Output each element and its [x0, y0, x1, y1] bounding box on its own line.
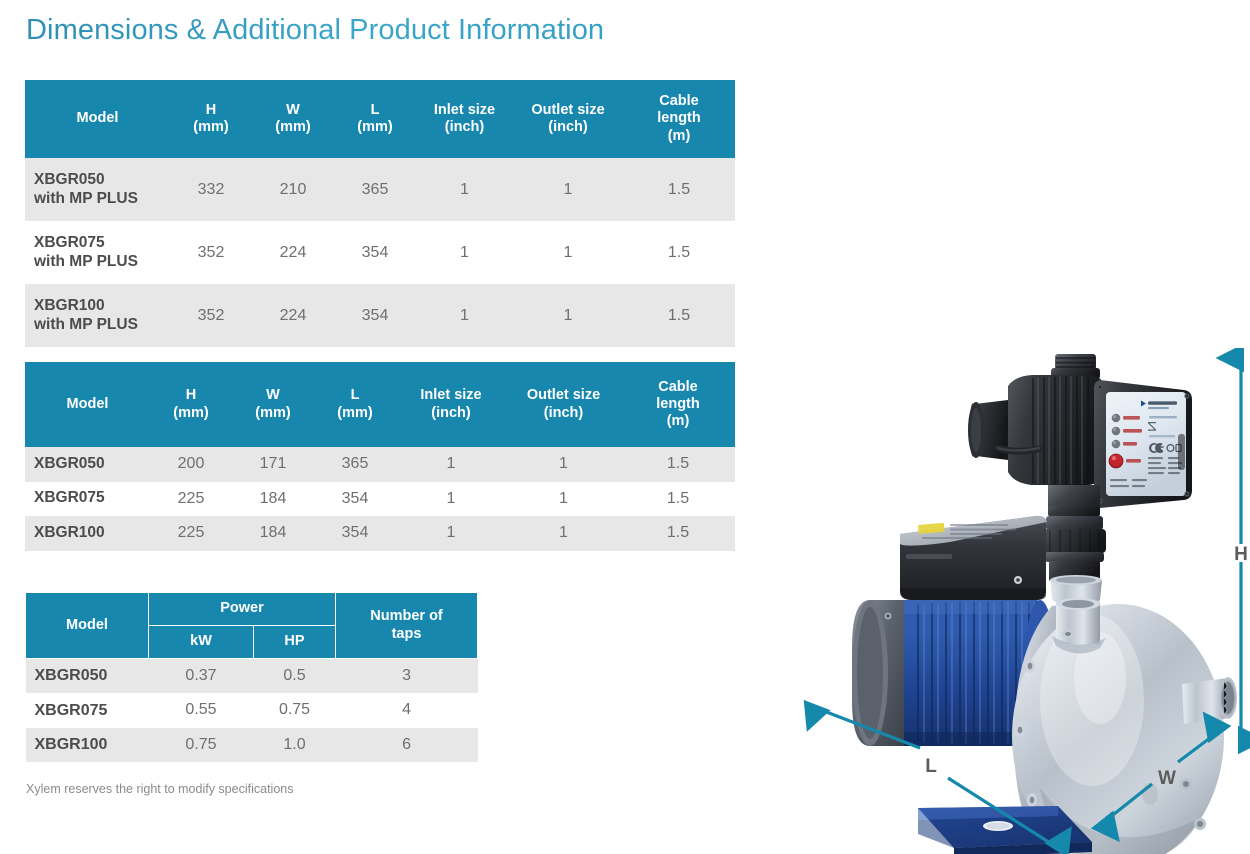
- cell-model: XBGR075: [25, 482, 150, 517]
- cell-length: 354: [314, 482, 396, 517]
- cell-length: 354: [334, 221, 416, 284]
- col-header-kw: kW: [149, 626, 254, 659]
- col-header-hp: HP: [254, 626, 336, 659]
- col-header-model: Model: [25, 362, 150, 447]
- cell-cable-length: 1.5: [623, 158, 735, 221]
- cell-width: 184: [232, 516, 314, 551]
- table-row: XBGR100 with MP PLUS 352 224 354 1 1 1.5: [25, 284, 735, 347]
- controller-neck-fitting: [1043, 485, 1106, 581]
- power-and-taps-table: Model Power Number of taps kW HP XBGR050…: [25, 592, 478, 762]
- col-header-cable-length: Cable length (m): [621, 362, 735, 447]
- col-header-inlet-size: Inlet size (inch): [396, 362, 506, 447]
- dimension-label-width: W: [1158, 768, 1176, 789]
- table-row: XBGR075 with MP PLUS 352 224 354 1 1 1.5: [25, 221, 735, 284]
- cell-inlet-size: 1: [396, 516, 506, 551]
- dimension-label-height: H: [1234, 544, 1248, 565]
- col-header-inlet-size: Inlet size (inch): [416, 80, 513, 158]
- cell-height: 225: [150, 482, 232, 517]
- col-header-cable-length: Cable length (m): [623, 80, 735, 158]
- page-title: Dimensions & Additional Product Informat…: [26, 14, 604, 47]
- col-header-length: L (mm): [314, 362, 396, 447]
- table-header-row: Model H (mm) W (mm) L (mm) Inlet size (i…: [25, 80, 735, 158]
- cell-inlet-size: 1: [396, 447, 506, 482]
- cell-power-kw: 0.37: [149, 659, 254, 694]
- cell-outlet-size: 1: [513, 221, 623, 284]
- cell-height: 332: [170, 158, 252, 221]
- pump-suction-inlet-port: [1052, 598, 1106, 654]
- cell-model: XBGR100: [26, 728, 149, 763]
- cell-height: 352: [170, 284, 252, 347]
- cell-width: 210: [252, 158, 334, 221]
- cell-model: XBGR050: [26, 659, 149, 694]
- dimensions-table-with-mp-plus: Model H (mm) W (mm) L (mm) Inlet size (i…: [25, 80, 735, 347]
- cell-width: 171: [232, 447, 314, 482]
- cell-number-of-taps: 6: [336, 728, 478, 763]
- cell-inlet-size: 1: [416, 221, 513, 284]
- col-header-height: H (mm): [150, 362, 232, 447]
- cell-cable-length: 1.5: [621, 516, 735, 551]
- cell-width: 224: [252, 284, 334, 347]
- controller-pressure-vessel: [968, 375, 1104, 485]
- col-header-outlet-size: Outlet size (inch): [506, 362, 621, 447]
- table-row: XBGR050 0.37 0.5 3: [26, 659, 478, 694]
- cell-number-of-taps: 4: [336, 693, 478, 728]
- cell-outlet-size: 1: [513, 284, 623, 347]
- cell-model: XBGR100 with MP PLUS: [25, 284, 170, 347]
- cell-length: 365: [334, 158, 416, 221]
- pump-product-illustration: H L W: [800, 348, 1250, 854]
- col-header-power-group: Power: [149, 593, 336, 626]
- cell-outlet-size: 1: [506, 482, 621, 517]
- cell-power-kw: 0.55: [149, 693, 254, 728]
- cell-model: XBGR075: [26, 693, 149, 728]
- col-header-model: Model: [26, 593, 149, 659]
- cell-cable-length: 1.5: [621, 482, 735, 517]
- col-header-model: Model: [25, 80, 170, 158]
- specifications-disclaimer: Xylem reserves the right to modify speci…: [26, 782, 293, 796]
- cell-number-of-taps: 3: [336, 659, 478, 694]
- cell-inlet-size: 1: [416, 158, 513, 221]
- pump-discharge-outlet-port: [1182, 677, 1237, 724]
- cell-inlet-size: 1: [396, 482, 506, 517]
- cell-model: XBGR075 with MP PLUS: [25, 221, 170, 284]
- col-header-length: L (mm): [334, 80, 416, 158]
- col-header-height: H (mm): [170, 80, 252, 158]
- table-header-row-group: Model Power Number of taps: [26, 593, 478, 626]
- dimension-label-length: L: [925, 756, 937, 777]
- cell-height: 352: [170, 221, 252, 284]
- cell-power-kw: 0.75: [149, 728, 254, 763]
- cell-outlet-size: 1: [506, 516, 621, 551]
- col-header-outlet-size: Outlet size (inch): [513, 80, 623, 158]
- cell-model: XBGR050: [25, 447, 150, 482]
- cell-length: 354: [334, 284, 416, 347]
- col-header-width: W (mm): [232, 362, 314, 447]
- cell-height: 200: [150, 447, 232, 482]
- table-row: XBGR075 225 184 354 1 1 1.5: [25, 482, 735, 517]
- table-row: XBGR100 225 184 354 1 1 1.5: [25, 516, 735, 551]
- table-row: XBGR050 200 171 365 1 1 1.5: [25, 447, 735, 482]
- cell-length: 365: [314, 447, 396, 482]
- cell-outlet-size: 1: [513, 158, 623, 221]
- controller-enclosure: [1094, 380, 1192, 508]
- cell-power-hp: 0.75: [254, 693, 336, 728]
- cell-inlet-size: 1: [416, 284, 513, 347]
- cell-outlet-size: 1: [506, 447, 621, 482]
- table-row: XBGR075 0.55 0.75 4: [26, 693, 478, 728]
- cell-height: 225: [150, 516, 232, 551]
- table-header-row: Model H (mm) W (mm) L (mm) Inlet size (i…: [25, 362, 735, 447]
- cell-cable-length: 1.5: [623, 221, 735, 284]
- cell-power-hp: 0.5: [254, 659, 336, 694]
- col-header-width: W (mm): [252, 80, 334, 158]
- motor-terminal-box: [900, 516, 1047, 600]
- cell-width: 224: [252, 221, 334, 284]
- cell-power-hp: 1.0: [254, 728, 336, 763]
- dimension-indicator-height: H: [1234, 358, 1248, 740]
- cell-cable-length: 1.5: [621, 447, 735, 482]
- cell-cable-length: 1.5: [623, 284, 735, 347]
- cell-length: 354: [314, 516, 396, 551]
- col-header-number-of-taps: Number of taps: [336, 593, 478, 659]
- table-row: XBGR050 with MP PLUS 332 210 365 1 1 1.5: [25, 158, 735, 221]
- cell-width: 184: [232, 482, 314, 517]
- cell-model: XBGR100: [25, 516, 150, 551]
- dimensions-table-base-models: Model H (mm) W (mm) L (mm) Inlet size (i…: [25, 362, 735, 551]
- cell-model: XBGR050 with MP PLUS: [25, 158, 170, 221]
- table-row: XBGR100 0.75 1.0 6: [26, 728, 478, 763]
